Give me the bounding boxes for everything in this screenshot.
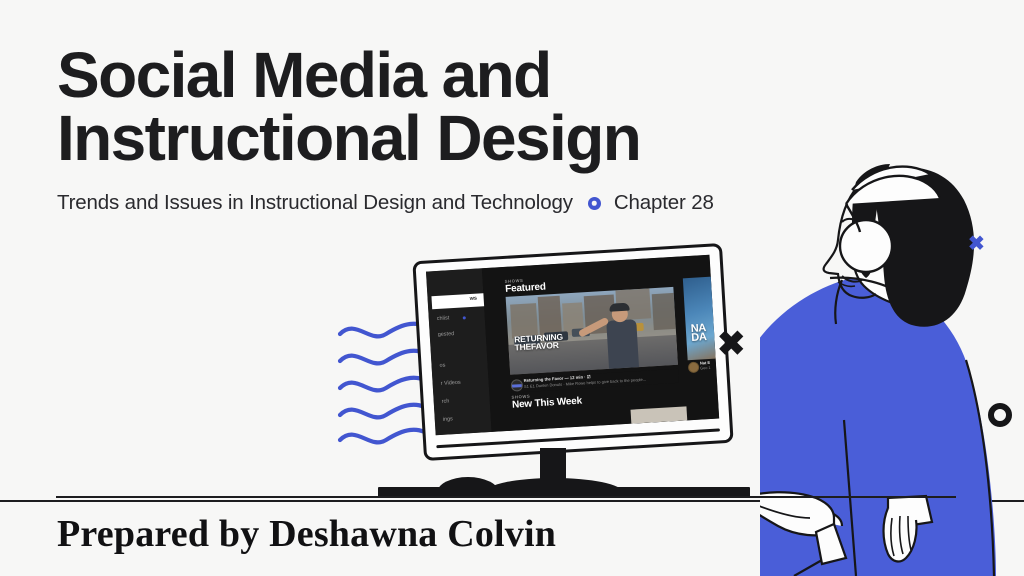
sidebar-item-0-dot: [463, 316, 466, 319]
subtitle-row: Trends and Issues in Instructional Desig…: [57, 191, 817, 215]
side-video-card[interactable]: NA DA: [683, 276, 719, 361]
channel-avatar: [511, 379, 524, 392]
prepared-by-text: Prepared by Deshawna Colvin: [57, 512, 556, 556]
sidebar-item-0[interactable]: chlist: [437, 315, 450, 322]
hero-person-figure: [600, 301, 644, 369]
sidebar-item-2[interactable]: os: [439, 363, 445, 369]
monitor-display: ws chlist gested os r Videos rch ings SH…: [412, 243, 733, 461]
featured-heading: Featured: [505, 282, 546, 295]
hero-title: RETURNING THEFAVOR: [514, 334, 564, 352]
person-illustration: [760, 160, 1024, 576]
x-mark-blue-icon: ✖: [968, 234, 985, 254]
sidebar-item-4[interactable]: rch: [442, 398, 450, 404]
side-meta-line-2: Geo 1: [700, 365, 711, 370]
monitor-screen[interactable]: ws chlist gested os r Videos rch ings SH…: [426, 255, 719, 436]
ring-mark-black-icon: [988, 403, 1012, 427]
screen-sidebar[interactable]: ws chlist gested os r Videos rch ings: [426, 268, 492, 435]
x-mark-black-icon: ✖: [717, 327, 746, 361]
sidebar-item-active-label: ws: [469, 296, 477, 302]
sidebar-item-3[interactable]: r Videos: [440, 380, 460, 387]
sidebar-active-highlight: [431, 293, 490, 309]
hero-video-card[interactable]: RETURNING THEFAVOR: [506, 287, 678, 375]
footer-divider: [56, 496, 956, 498]
title-block: Social Media and Instructional Design Tr…: [57, 44, 817, 215]
slide-canvas: Social Media and Instructional Design Tr…: [0, 0, 1024, 576]
monitor-bezel: ws chlist gested os r Videos rch ings SH…: [412, 243, 733, 461]
side-channel-avatar: [688, 362, 700, 374]
side-card-title: NA DA: [691, 324, 707, 344]
page-title: Social Media and Instructional Design: [57, 44, 817, 169]
headphone-earcup: [840, 220, 892, 272]
chapter-label: Chapter 28: [614, 191, 714, 215]
subtitle-text: Trends and Issues in Instructional Desig…: [57, 191, 573, 215]
sidebar-item-5[interactable]: ings: [443, 416, 453, 423]
new-this-week-thumbnail[interactable]: [631, 406, 688, 423]
screen-main: SHOWS Featured: [482, 255, 719, 432]
bullet-ring-icon: [588, 197, 601, 210]
sidebar-item-1[interactable]: gested: [438, 331, 455, 338]
